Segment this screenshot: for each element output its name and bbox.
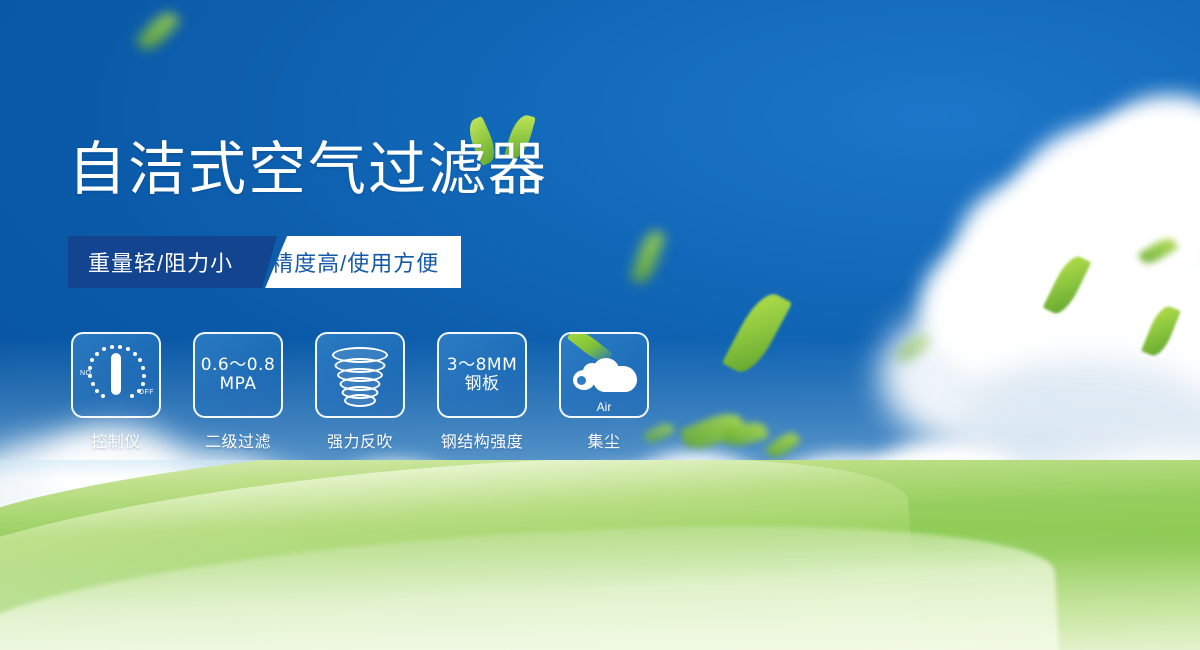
pressure-text-icon: 0.6～0.8 MPA — [201, 356, 276, 395]
steel-plate-text-icon: 3～8MM 钢板 — [447, 356, 517, 395]
feature-text-line1: 0.6～0.8 — [201, 355, 276, 375]
feature-label: 集尘 — [587, 428, 620, 452]
feature-icon-box: 3～8MM 钢板 — [437, 332, 527, 418]
feature-icon-box: NO OFF — [71, 332, 161, 418]
feature-list: NO OFF 控制仪 0.6～0.8 MPA 二级过滤 — [68, 332, 652, 452]
feature-text-line2: MPA — [201, 375, 276, 394]
feature-item-blowback[interactable]: 强力反吹 — [312, 332, 408, 452]
feature-label: 二级过滤 — [205, 428, 271, 452]
air-label: Air — [569, 400, 639, 414]
feature-text-line2: 钢板 — [447, 375, 517, 394]
gauge-dial-icon: NO OFF — [80, 344, 152, 406]
feature-icon-box — [315, 332, 405, 418]
gauge-off-label: OFF — [139, 389, 155, 396]
feature-icon-box: 0.6～0.8 MPA — [193, 332, 283, 418]
feature-label: 强力反吹 — [327, 428, 393, 452]
coil-spring-icon — [332, 345, 388, 405]
feature-item-dust[interactable]: Air 集尘 — [556, 332, 652, 452]
product-banner: 自洁式空气过滤器 重量轻/阻力小 精度高/使用方便 — [0, 0, 1200, 650]
tagline-primary: 重量轻/阻力小 — [68, 236, 251, 288]
feature-item-filter[interactable]: 0.6～0.8 MPA 二级过滤 — [190, 332, 286, 452]
gauge-needle — [111, 353, 121, 395]
feature-text-line1: 3～8MM — [447, 355, 517, 375]
tagline-bar: 重量轻/阻力小 精度高/使用方便 — [68, 236, 461, 288]
feature-label: 控制仪 — [91, 428, 141, 452]
feature-item-steel[interactable]: 3～8MM 钢板 钢结构强度 — [434, 332, 530, 452]
feature-item-controller[interactable]: NO OFF 控制仪 — [68, 332, 164, 452]
page-title: 自洁式空气过滤器 — [68, 140, 548, 198]
tagline-secondary: 精度高/使用方便 — [265, 236, 461, 288]
gauge-on-label: NO — [80, 370, 92, 377]
cloud-air-icon: Air — [569, 350, 639, 400]
feature-icon-box: Air — [559, 332, 649, 418]
feature-label: 钢结构强度 — [441, 428, 524, 452]
